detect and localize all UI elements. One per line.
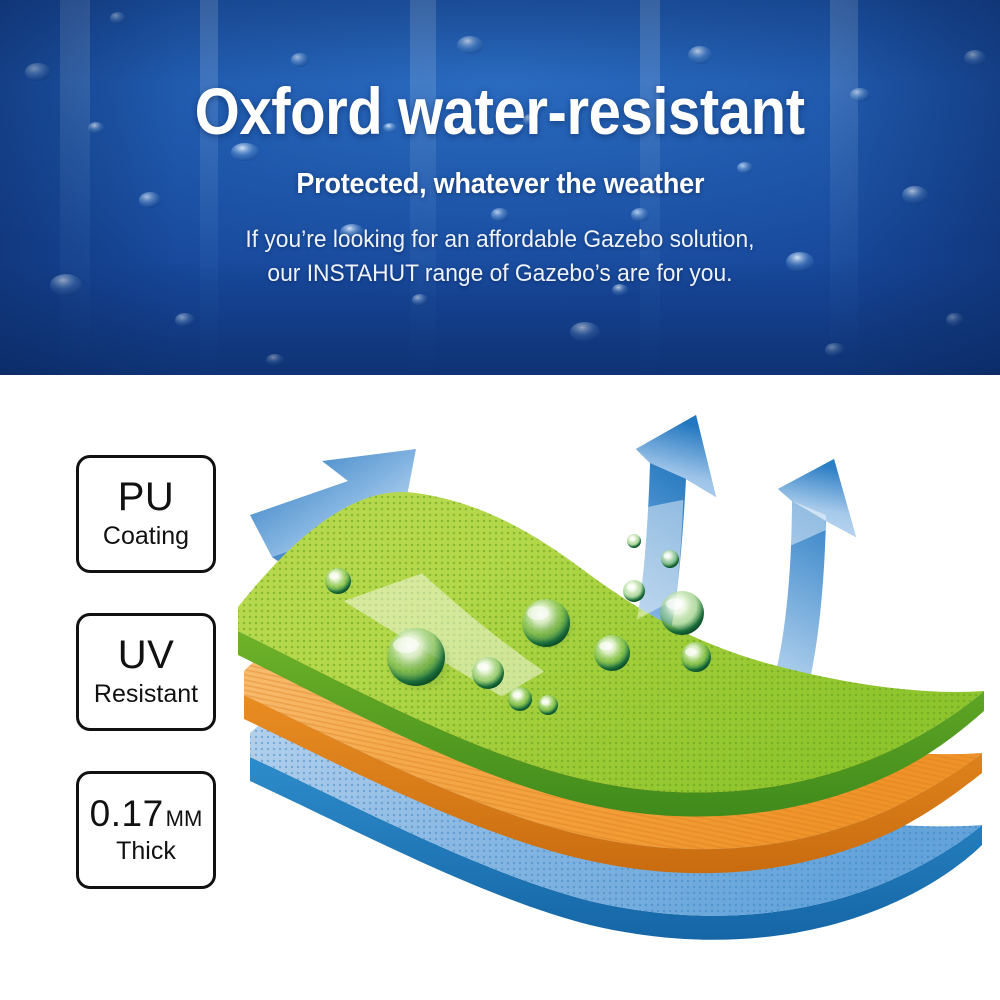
badge-uv-resistant-sub: Resistant — [94, 681, 198, 709]
badge-thickness: 0.17MM Thick — [76, 771, 216, 889]
banner-title: Oxford water-resistant — [195, 78, 805, 144]
fabric-layers-illustration — [230, 405, 990, 975]
badge-thickness-unit: MM — [166, 808, 203, 830]
badge-uv-resistant: UV Resistant — [76, 613, 216, 731]
banner-subtitle: Protected, whatever the weather — [296, 168, 704, 201]
badge-thickness-main: 0.17MM — [90, 795, 203, 832]
product-feature-image: Oxford water-resistant Protected, whatev… — [0, 0, 1000, 1000]
badge-pu-coating-main: PU — [118, 477, 175, 517]
badge-thickness-value: 0.17 — [90, 795, 164, 832]
badge-pu-coating: PU Coating — [76, 455, 216, 573]
badge-pu-coating-value: PU — [118, 477, 175, 517]
banner-body: If you’re looking for an affordable Gaze… — [245, 223, 754, 291]
feature-badge-list: PU Coating UV Resistant 0.17MM Thick — [76, 455, 216, 929]
banner-body-line-2: our INSTAHUT range of Gazebo’s are for y… — [245, 257, 754, 291]
banner-body-line-1: If you’re looking for an affordable Gaze… — [245, 223, 754, 257]
badge-uv-resistant-value: UV — [118, 635, 175, 675]
feature-panel: PU Coating UV Resistant 0.17MM Thick — [0, 375, 1000, 1000]
badge-thickness-sub: Thick — [116, 838, 176, 866]
badge-uv-resistant-main: UV — [118, 635, 175, 675]
badge-pu-coating-sub: Coating — [103, 523, 189, 551]
hero-banner: Oxford water-resistant Protected, whatev… — [0, 0, 1000, 375]
